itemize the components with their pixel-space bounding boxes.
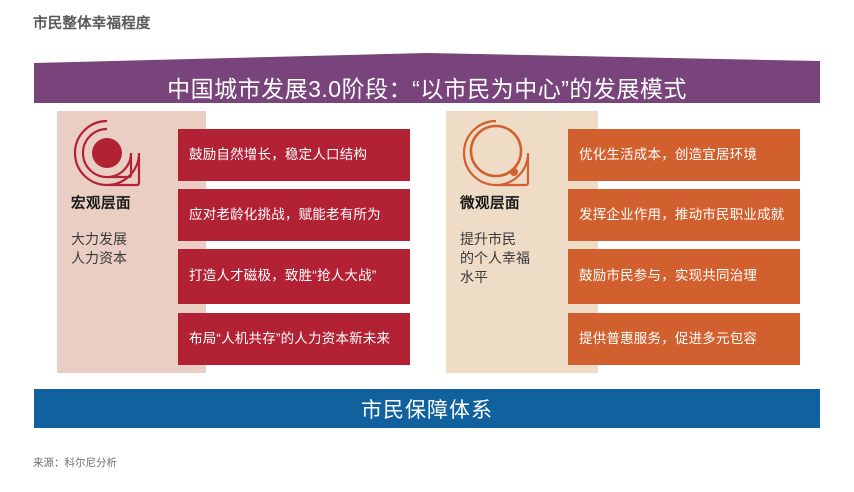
list-item[interactable]: 鼓励自然增长，稳定人口结构 — [178, 129, 410, 181]
panel-micro-subtitle: 提升市民 的个人幸福 水平 — [460, 230, 580, 287]
ring-with-dot-icon — [460, 117, 532, 189]
list-item[interactable]: 布局“人机共存”的人力资本新未来 — [178, 313, 410, 365]
bottom-banner: 市民保障体系 — [34, 389, 820, 428]
list-item[interactable]: 提供普惠服务，促进多元包容 — [568, 313, 800, 365]
panel-micro-items: 优化生活成本，创造宜居环境 发挥企业作用，推动市民职业成就 鼓励市民参与，实现共… — [568, 111, 800, 373]
concentric-circles-icon — [71, 117, 143, 189]
list-item[interactable]: 优化生活成本，创造宜居环境 — [568, 129, 800, 181]
panel-macro-subtitle: 大力发展 人力资本 — [71, 230, 191, 268]
source-note: 来源：科尔尼分析 — [33, 455, 117, 470]
list-item[interactable]: 发挥企业作用，推动市民职业成就 — [568, 189, 800, 241]
page-title: 市民整体幸福程度 — [33, 12, 151, 33]
panel-macro-heading: 宏观层面 — [71, 192, 131, 213]
slide-canvas: 市民整体幸福程度 中国城市发展3.0阶段：“以市民为中心”的发展模式 宏观层面 … — [0, 0, 854, 492]
top-banner: 中国城市发展3.0阶段：“以市民为中心”的发展模式 — [34, 53, 820, 103]
panel-macro-items: 鼓励自然增长，稳定人口结构 应对老龄化挑战，赋能老有所为 打造人才磁极，致胜“抢… — [178, 111, 410, 373]
list-item[interactable]: 鼓励市民参与，实现共同治理 — [568, 249, 800, 304]
panel-micro-heading: 微观层面 — [460, 192, 520, 213]
top-banner-label: 中国城市发展3.0阶段：“以市民为中心”的发展模式 — [34, 70, 820, 104]
bottom-banner-label: 市民保障体系 — [361, 394, 493, 424]
list-item[interactable]: 打造人才磁极，致胜“抢人大战” — [178, 249, 410, 304]
list-item[interactable]: 应对老龄化挑战，赋能老有所为 — [178, 189, 410, 241]
